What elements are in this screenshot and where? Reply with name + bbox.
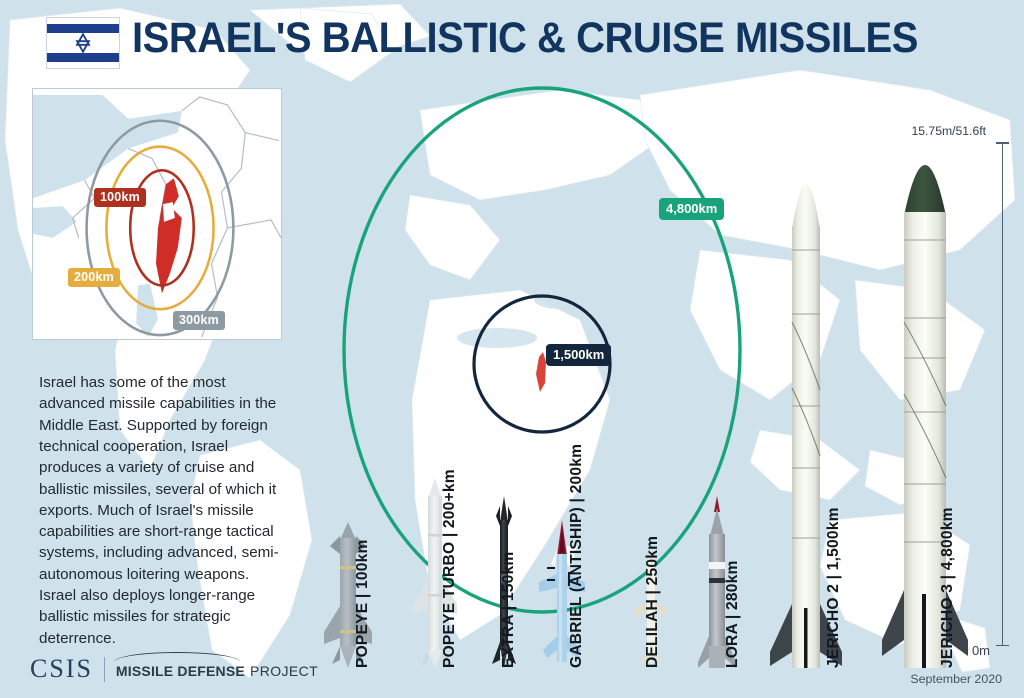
date-stamp: September 2020 bbox=[910, 672, 1002, 686]
description-text: Israel has some of the most advanced mis… bbox=[39, 372, 284, 649]
project-light-text: PROJECT bbox=[250, 663, 318, 679]
footer-logo: CSIS MISSILE DEFENSE PROJECT bbox=[30, 654, 318, 684]
inset-ring-label-200km: 200km bbox=[68, 268, 120, 287]
scale-top-label: 15.75m/51.6ft bbox=[911, 124, 986, 138]
star-of-david-icon bbox=[72, 32, 94, 54]
missile-label-extra: EXTRA | 150km bbox=[500, 552, 518, 668]
missile-label-popeye: POPEYE | 100km bbox=[354, 539, 372, 668]
israel-flag-icon bbox=[46, 17, 120, 69]
missile-label-gabriel: GABRIEL (ANTISHIP) | 200km bbox=[568, 444, 586, 668]
ring-label-1500km: 1,500km bbox=[546, 344, 611, 366]
missile-label-delilah: DELILAH | 250km bbox=[644, 536, 662, 668]
height-scale-bar bbox=[1002, 142, 1003, 646]
header: ISRAEL'S BALLISTIC & CRUISE MISSILES bbox=[0, 0, 1024, 86]
ring-label-4800km: 4,800km bbox=[659, 198, 724, 220]
missile-label-jericho-3: JERICHO 3 | 4,800km bbox=[939, 507, 957, 668]
inset-range-map bbox=[32, 88, 282, 340]
page-title: ISRAEL'S BALLISTIC & CRUISE MISSILES bbox=[132, 14, 932, 63]
missile-label-popeye-turbo: POPEYE TURBO | 200+km bbox=[441, 469, 459, 668]
inset-ring-label-100km: 100km bbox=[94, 188, 146, 207]
missile-label-lora: LORA | 280km bbox=[724, 560, 742, 668]
inset-ring-label-300km: 300km bbox=[173, 311, 225, 330]
missile-defense-project-wordmark: MISSILE DEFENSE PROJECT bbox=[116, 659, 318, 679]
arc-decoration bbox=[114, 652, 240, 664]
infographic-canvas: 4,800km 1,500km ISRAEL'S BALLISTIC & CRU… bbox=[0, 0, 1024, 698]
logo-divider bbox=[104, 657, 105, 682]
project-bold-text: MISSILE DEFENSE bbox=[116, 663, 245, 679]
missile-label-jericho-2: JERICHO 2 | 1,500km bbox=[825, 507, 843, 668]
scale-bottom-label: 0m bbox=[972, 643, 990, 658]
csis-wordmark: CSIS bbox=[30, 654, 93, 684]
